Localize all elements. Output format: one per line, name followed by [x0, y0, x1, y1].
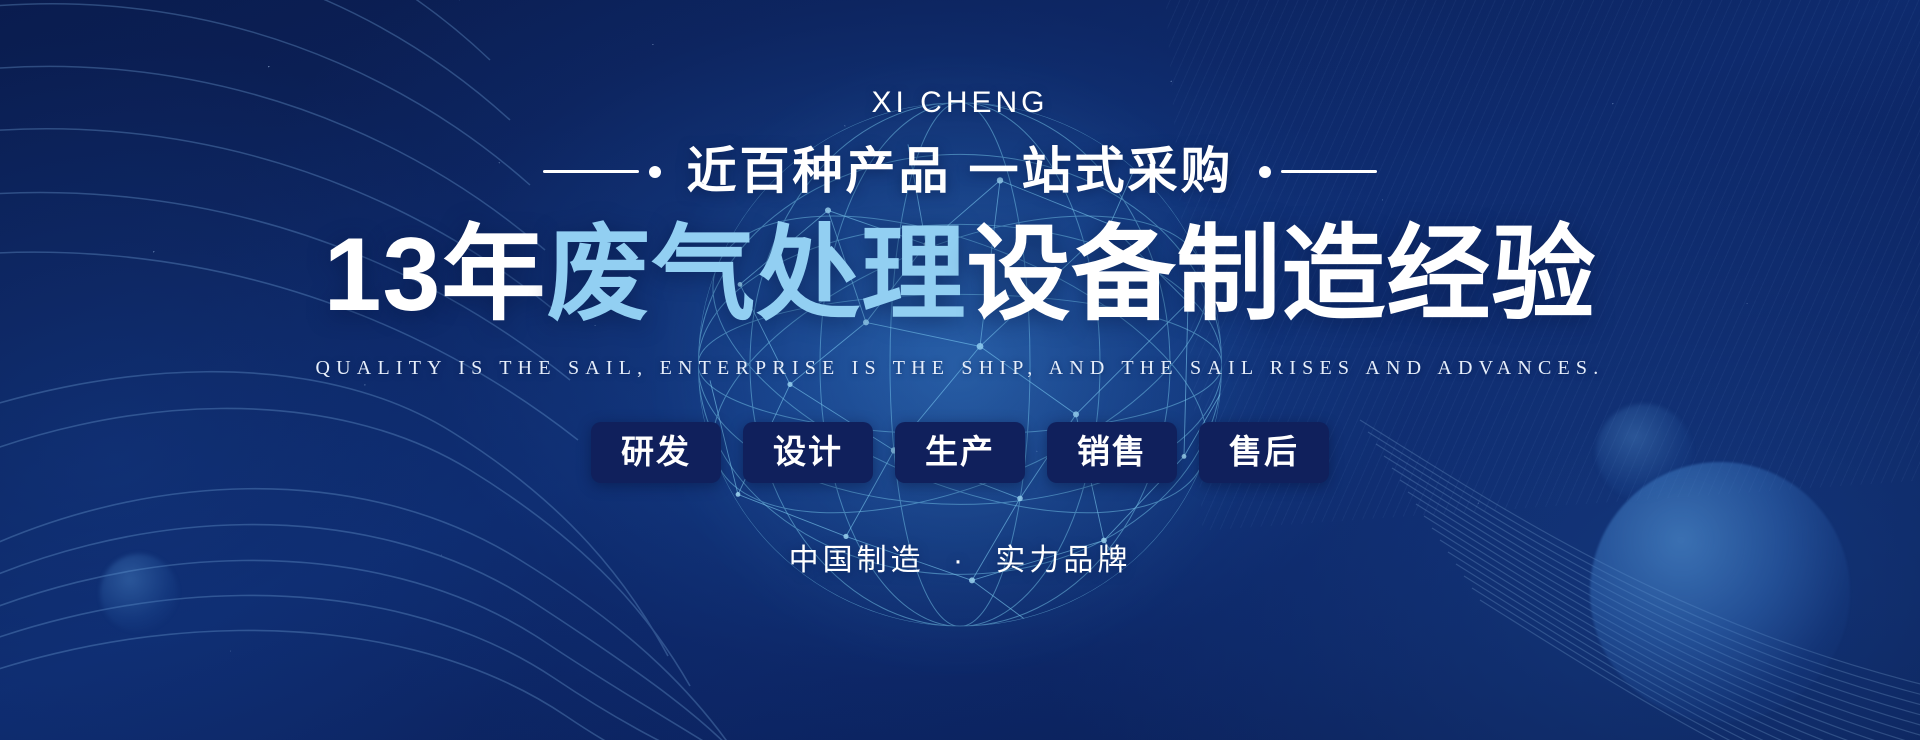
- headline-lead: 13年: [324, 217, 547, 333]
- brand-name-english: XI CHENG: [871, 88, 1048, 118]
- service-chip-aftersales[interactable]: 售后: [1199, 422, 1329, 483]
- footnote-left: 中国制造: [789, 544, 925, 577]
- service-chip-sales[interactable]: 销售: [1047, 422, 1177, 483]
- hero-banner: XI CHENG 近百种产品 一站式采购 13年废气处理设备制造经验 QUALI…: [0, 0, 1920, 740]
- service-chip-design[interactable]: 设计: [743, 422, 873, 483]
- divider-left-decoration: [543, 166, 661, 178]
- tagline-english: QUALITY IS THE SAIL, ENTERPRISE IS THE S…: [316, 357, 1605, 380]
- subtitle-row: 近百种产品 一站式采购: [543, 144, 1378, 199]
- divider-bar: [543, 170, 639, 173]
- banner-content: XI CHENG 近百种产品 一站式采购 13年废气处理设备制造经验 QUALI…: [0, 0, 1920, 740]
- divider-dot: [1259, 166, 1271, 178]
- headline-accent: 废气处理: [546, 217, 966, 333]
- divider-right-decoration: [1259, 166, 1377, 178]
- headline: 13年废气处理设备制造经验: [324, 219, 1597, 331]
- divider-bar: [1281, 170, 1377, 173]
- banner-subtitle: 近百种产品 一站式采购: [687, 144, 1234, 199]
- footnote-separator: ·: [937, 544, 983, 577]
- divider-dot: [649, 166, 661, 178]
- service-chip-rd[interactable]: 研发: [591, 422, 721, 483]
- service-chip-list: 研发 设计 生产 销售 售后: [591, 422, 1329, 483]
- footnote: 中国制造 · 实力品牌: [789, 535, 1132, 579]
- footnote-right: 实力品牌: [995, 544, 1131, 577]
- service-chip-production[interactable]: 生产: [895, 422, 1025, 483]
- headline-tail: 设备制造经验: [966, 217, 1596, 333]
